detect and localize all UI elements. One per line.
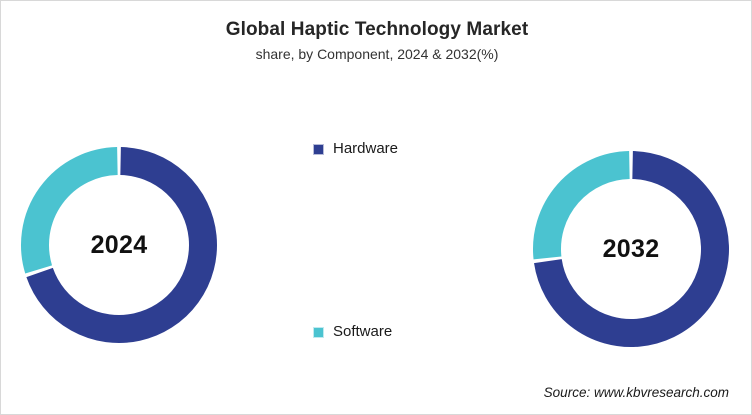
donut-2024-segments <box>35 161 203 329</box>
legend-swatch-software <box>313 327 324 338</box>
chart-canvas: Global Haptic Technology Market share, b… <box>0 0 752 415</box>
donut-2032-svg <box>525 143 737 355</box>
donut-slice-software[interactable] <box>35 161 117 269</box>
donut-2024-svg <box>13 139 225 351</box>
donut-2032-segments <box>547 165 715 333</box>
chart-title-block: Global Haptic Technology Market share, b… <box>1 17 752 65</box>
page-title: Global Haptic Technology Market <box>1 17 752 43</box>
chart-subtitle: share, by Component, 2024 & 2032(%) <box>1 43 752 65</box>
legend-item-hardware[interactable]: Hardware <box>313 139 473 159</box>
chart-legend: Hardware Software <box>313 139 473 342</box>
legend-item-software[interactable]: Software <box>313 322 473 342</box>
legend-label-software: Software <box>333 322 392 342</box>
donut-chart-2032: 2032 <box>525 143 737 355</box>
legend-swatch-hardware <box>313 144 324 155</box>
donut-slice-software[interactable] <box>547 165 629 258</box>
donut-chart-2024: 2024 <box>13 139 225 351</box>
source-attribution: Source: www.kbvresearch.com <box>544 385 729 400</box>
legend-label-hardware: Hardware <box>333 139 398 159</box>
